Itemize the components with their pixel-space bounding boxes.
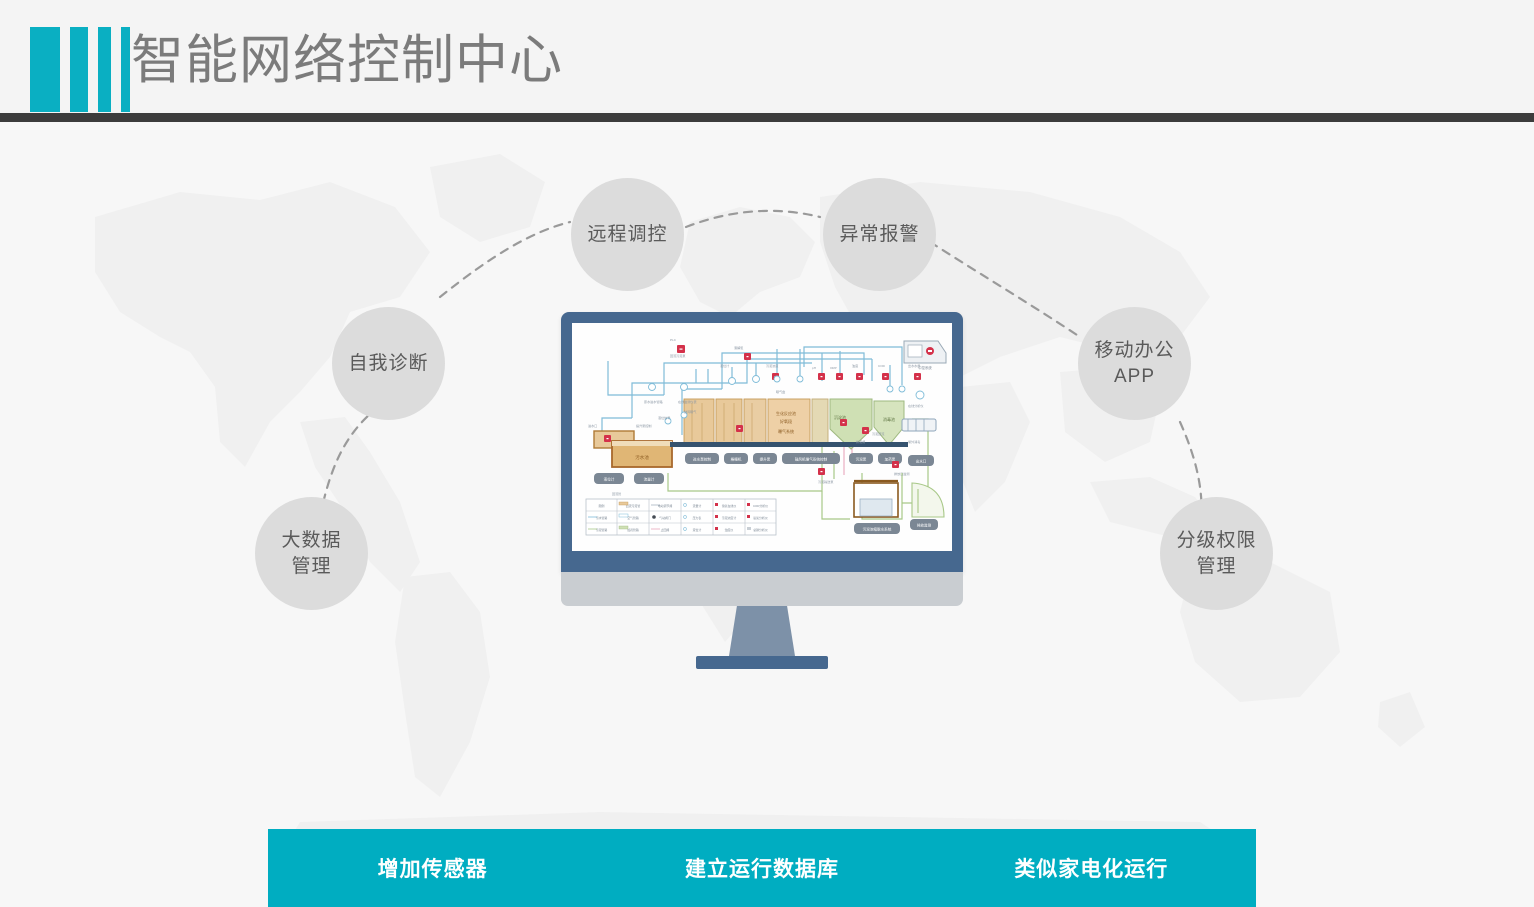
svg-text:在线分析仪: 在线分析仪 <box>908 403 923 408</box>
svg-text:污泥浓度: 污泥浓度 <box>766 363 778 368</box>
bubble-self-diagnosis[interactable]: 自我诊断 <box>332 307 445 420</box>
svg-text:污水池: 污水池 <box>635 454 649 461</box>
svg-text:加药泵: 加药泵 <box>885 457 896 462</box>
bubble-label-self-diagnosis: 自我诊断 <box>342 351 434 377</box>
svg-text:液位计: 液位计 <box>693 527 702 532</box>
svg-text:生化反应池: 生化反应池 <box>776 410 796 416</box>
svg-text:pH: pH <box>812 366 816 370</box>
feature-build-database[interactable]: 建立运行数据库 <box>597 853 926 883</box>
header-accent-bars <box>30 27 140 112</box>
svg-text:排放口监测: 排放口监测 <box>894 471 909 476</box>
slide-body: 远程调控 异常报警 自我诊断 移动办公 APP 大数据 管理 分级权限 管理 <box>0 122 1534 863</box>
svg-text:液位信号: 液位信号 <box>658 415 670 420</box>
svg-text:PLC: PLC <box>670 338 677 342</box>
svg-text:格栅机: 格栅机 <box>731 457 742 462</box>
bubble-big-data-management[interactable]: 大数据 管理 <box>255 497 368 610</box>
svg-text:原水进水管路: 原水进水管路 <box>644 399 663 404</box>
svg-text:鼓风机曝气系统控制: 鼓风机曝气系统控制 <box>795 457 828 462</box>
svg-text:电动调节阀: 电动调节阀 <box>658 503 673 508</box>
accent-bar-3 <box>98 27 111 112</box>
svg-text:提升泵控制: 提升泵控制 <box>636 423 651 428</box>
svg-text:COD分析仪: COD分析仪 <box>753 503 768 508</box>
svg-text:污泥浓缩脱水系统: 污泥浓缩脱水系统 <box>863 527 892 532</box>
svg-text:提升泵: 提升泵 <box>760 457 771 462</box>
svg-text:排泥阀: 排泥阀 <box>856 439 865 444</box>
svg-text:曝气盘: 曝气盘 <box>776 389 785 394</box>
monitor-chin <box>561 572 963 606</box>
svg-text:加药管路: 加药管路 <box>627 527 639 532</box>
accent-bar-4 <box>121 27 130 112</box>
svg-text:进水泵控制: 进水泵控制 <box>693 457 711 462</box>
bottom-feature-bar: 增加传感器 建立运行数据库 类似家电化运行 <box>268 829 1256 907</box>
monitor-stand-base <box>696 656 828 669</box>
svg-text:污泥浓度计: 污泥浓度计 <box>722 515 737 520</box>
svg-text:溶解氧: 溶解氧 <box>734 345 743 350</box>
page-title: 智能网络控制中心 <box>131 26 563 96</box>
monitor-bezel: 污水池 <box>561 312 963 572</box>
accent-bar-1 <box>30 27 60 112</box>
svg-text:浊度: 浊度 <box>852 363 858 368</box>
monitor-screen[interactable]: 污水池 <box>572 323 952 551</box>
svg-text:空气管路: 空气管路 <box>627 515 639 520</box>
svg-text:流量计: 流量计 <box>644 477 655 482</box>
desktop-monitor: 污水池 <box>561 312 963 752</box>
svg-text:图例: 图例 <box>599 503 605 508</box>
svg-text:回流污泥泵: 回流污泥泵 <box>670 353 685 358</box>
svg-text:止回阀: 止回阀 <box>661 527 670 532</box>
svg-text:污泥输送泵: 污泥输送泵 <box>818 479 833 484</box>
svg-text:气动阀门: 气动阀门 <box>659 515 671 520</box>
svg-text:回流管: 回流管 <box>612 491 621 496</box>
bubble-label-remote-control: 远程调控 <box>581 222 673 248</box>
header-divider <box>0 113 1534 122</box>
svg-text:流量计: 流量计 <box>693 503 702 508</box>
bubble-label-tiered-permission: 分级权限 管理 <box>1170 528 1262 580</box>
bubble-label-abnormal-alarm: 异常报警 <box>833 222 925 248</box>
svg-text:氨氮分析仪: 氨氮分析仪 <box>753 515 768 520</box>
bubble-label-mobile-office-app: 移动办公 APP <box>1088 338 1180 390</box>
bubble-remote-control[interactable]: 远程调控 <box>571 178 684 291</box>
svg-text:溶氧在线仪: 溶氧在线仪 <box>722 503 737 508</box>
bubble-mobile-office-app[interactable]: 移动办公 APP <box>1078 307 1191 420</box>
bubble-abnormal-alarm[interactable]: 异常报警 <box>823 178 936 291</box>
svg-text:鼓风曝气: 鼓风曝气 <box>684 409 696 414</box>
svg-text:出水水质: 出水水质 <box>908 363 920 368</box>
svg-text:COD: COD <box>878 364 886 368</box>
svg-text:曝气系统: 曝气系统 <box>778 428 794 434</box>
svg-text:进水口: 进水口 <box>588 423 597 428</box>
svg-text:污泥回流: 污泥回流 <box>872 431 884 436</box>
svg-text:出水口: 出水口 <box>916 459 927 464</box>
svg-text:液位计: 液位计 <box>604 477 615 482</box>
svg-text:好氧段: 好氧段 <box>780 418 792 424</box>
svg-text:ORP: ORP <box>830 366 837 370</box>
accent-bar-2 <box>70 27 88 112</box>
scada-process-diagram: 污水池 <box>572 323 952 551</box>
svg-text:紫外消毒: 紫外消毒 <box>908 439 920 444</box>
svg-text:总磷分析仪: 总磷分析仪 <box>753 527 768 532</box>
page-header: 智能网络控制中心 <box>0 0 1534 113</box>
bubble-tiered-permission[interactable]: 分级权限 管理 <box>1160 497 1273 610</box>
connector-selfdiag-remote <box>440 222 570 297</box>
svg-text:浊度仪: 浊度仪 <box>725 527 734 532</box>
svg-text:污水管路: 污水管路 <box>596 515 608 520</box>
bubble-label-big-data-management: 大数据 管理 <box>275 528 347 580</box>
feature-add-sensors[interactable]: 增加传感器 <box>268 853 597 883</box>
svg-text:压力表: 压力表 <box>693 515 702 520</box>
svg-text:排放监测: 排放监测 <box>917 523 932 528</box>
svg-text:液位计: 液位计 <box>720 363 729 368</box>
monitor-stand-neck <box>729 606 795 656</box>
feature-appliance-like-operation[interactable]: 类似家电化运行 <box>927 853 1256 883</box>
svg-text:在线监测仪表: 在线监测仪表 <box>678 399 697 404</box>
svg-text:污泥泵: 污泥泵 <box>856 457 867 462</box>
connector-remote-alarm <box>686 211 820 227</box>
svg-text:污泥管路: 污泥管路 <box>596 527 608 532</box>
svg-text:消毒池: 消毒池 <box>883 416 895 422</box>
